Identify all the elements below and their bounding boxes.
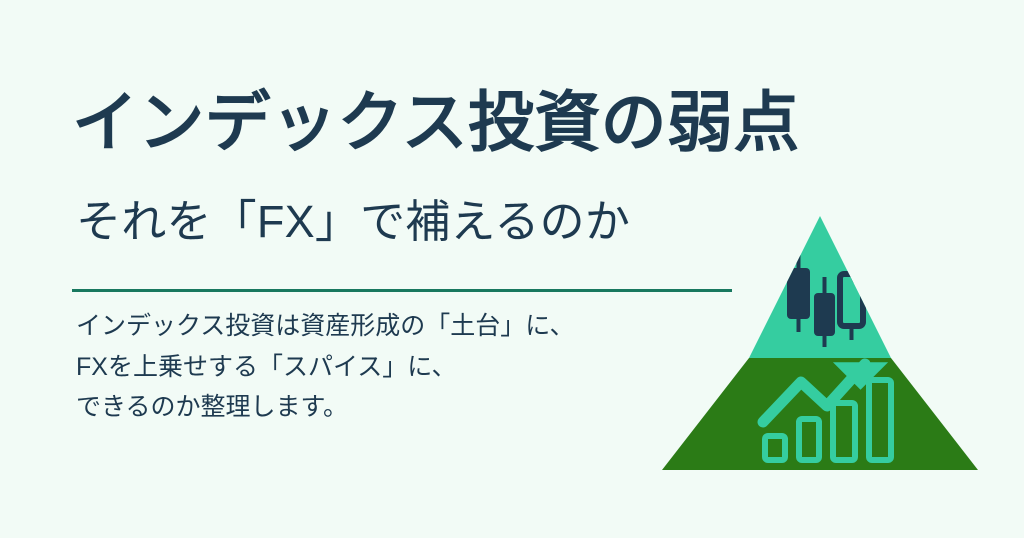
- hero-banner: インデックス投資の弱点 それを「FX」で補えるのか インデックス投資は資産形成の…: [0, 0, 1024, 538]
- pyramid-top-tier: [749, 216, 891, 358]
- investment-pyramid-graphic: [655, 214, 985, 476]
- body-text: インデックス投資は資産形成の「土台」に、 FXを上乗せする「スパイス」に、 でき…: [76, 306, 716, 428]
- candle-1-body: [787, 268, 810, 319]
- bar-1: [765, 436, 785, 460]
- bar-4: [869, 380, 891, 460]
- page-subtitle: それを「FX」で補えるのか: [76, 196, 630, 248]
- divider: [72, 289, 732, 292]
- body-line-1: インデックス投資は資産形成の「土台」に、: [76, 306, 716, 347]
- bar-2: [799, 419, 819, 460]
- body-line-3: できるのか整理します。: [76, 387, 716, 428]
- candle-3-body: [840, 274, 863, 326]
- body-line-2: FXを上乗せする「スパイス」に、: [76, 347, 716, 388]
- pyramid-svg: [655, 214, 985, 476]
- bar-3: [833, 403, 855, 460]
- page-title: インデックス投資の弱点: [72, 88, 800, 158]
- candle-2-body: [814, 293, 835, 336]
